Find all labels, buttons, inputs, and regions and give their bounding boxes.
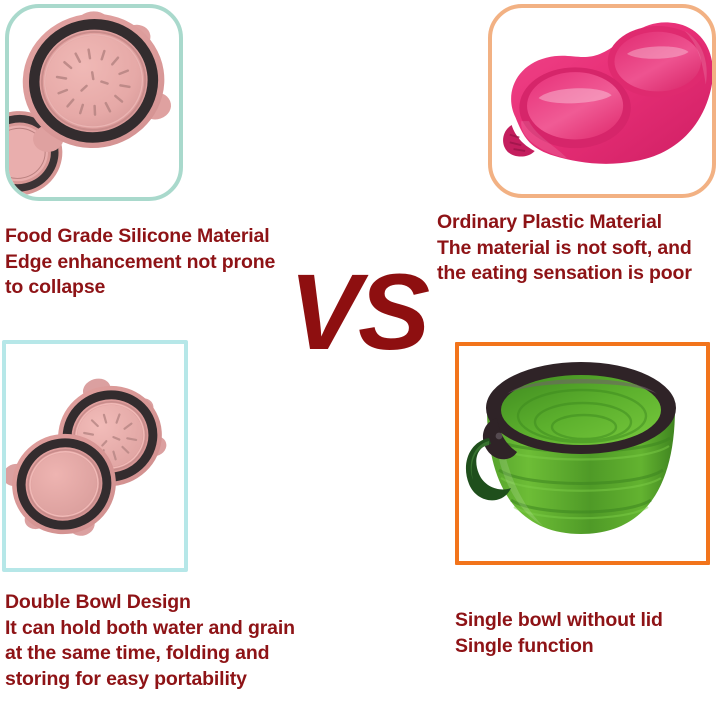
caption-bottom-right: Single bowl without lid Single function <box>455 608 720 659</box>
panel-image-frame-top-left <box>5 4 183 201</box>
comparison-infographic: Food Grade Silicone Material Edge enhanc… <box>0 0 720 720</box>
panel-image-frame-top-right <box>488 4 716 198</box>
green-collapsible-bowl-illustration <box>459 346 706 561</box>
panel-image-frame-bottom-left <box>2 340 188 572</box>
pink-silicone-bowl-with-lid-illustration <box>5 4 183 201</box>
pink-silicone-double-bowl-illustration <box>6 344 184 568</box>
panel-image-frame-bottom-right <box>455 342 710 565</box>
caption-bottom-left: Double Bowl Design It can hold both wate… <box>5 590 385 692</box>
pink-plastic-double-bowl-illustration <box>488 4 716 198</box>
versus-label: VS <box>268 258 448 366</box>
caption-top-right: Ordinary Plastic Material The material i… <box>437 210 720 287</box>
